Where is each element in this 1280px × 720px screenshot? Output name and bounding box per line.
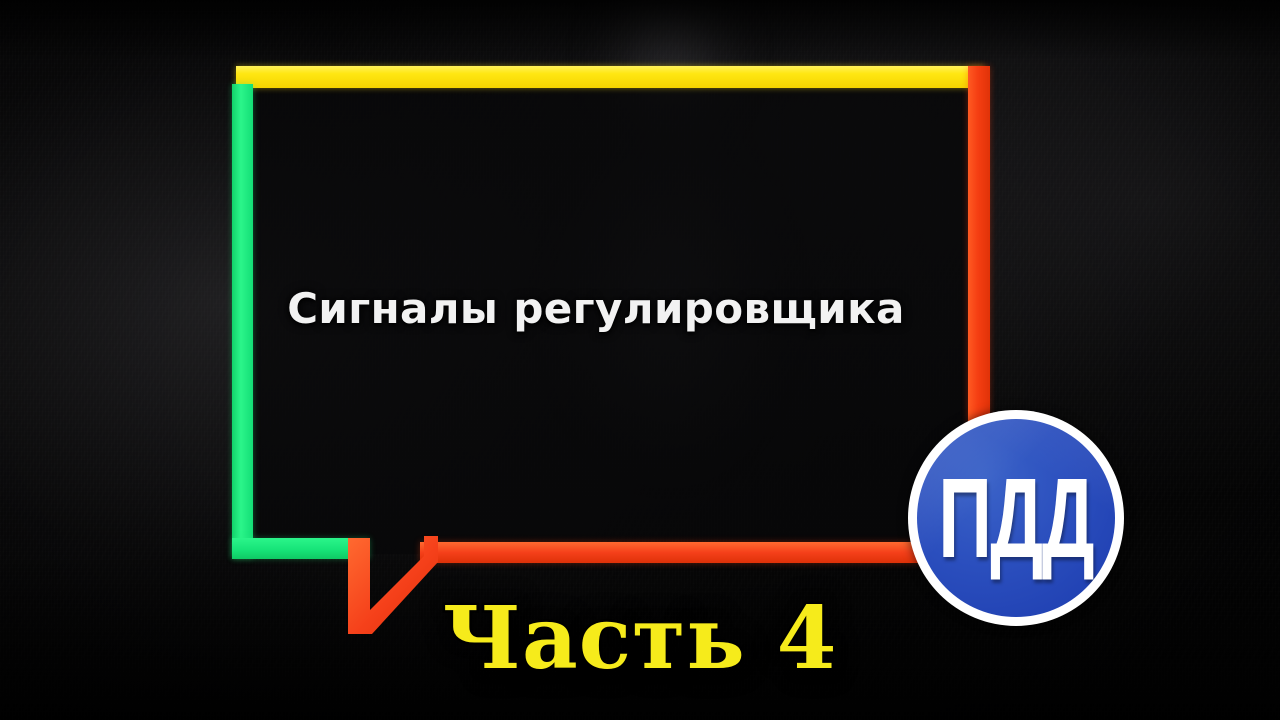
pdd-logo-badge: ПДД <box>908 410 1124 626</box>
background-top-shade <box>0 0 1280 60</box>
pdd-logo-disc: ПДД <box>917 419 1115 617</box>
pdd-logo-text: ПДД <box>939 461 1094 574</box>
speech-bubble-caption: Сигналы регулировщика <box>236 284 956 333</box>
speech-bubble-top-bar <box>236 66 984 88</box>
video-thumbnail: Сигналы регулировщика ПДД Часть 4 <box>0 0 1280 720</box>
part-number-label: Часть 4 <box>0 596 1280 682</box>
speech-bubble-bottom-right-bar <box>420 542 980 563</box>
